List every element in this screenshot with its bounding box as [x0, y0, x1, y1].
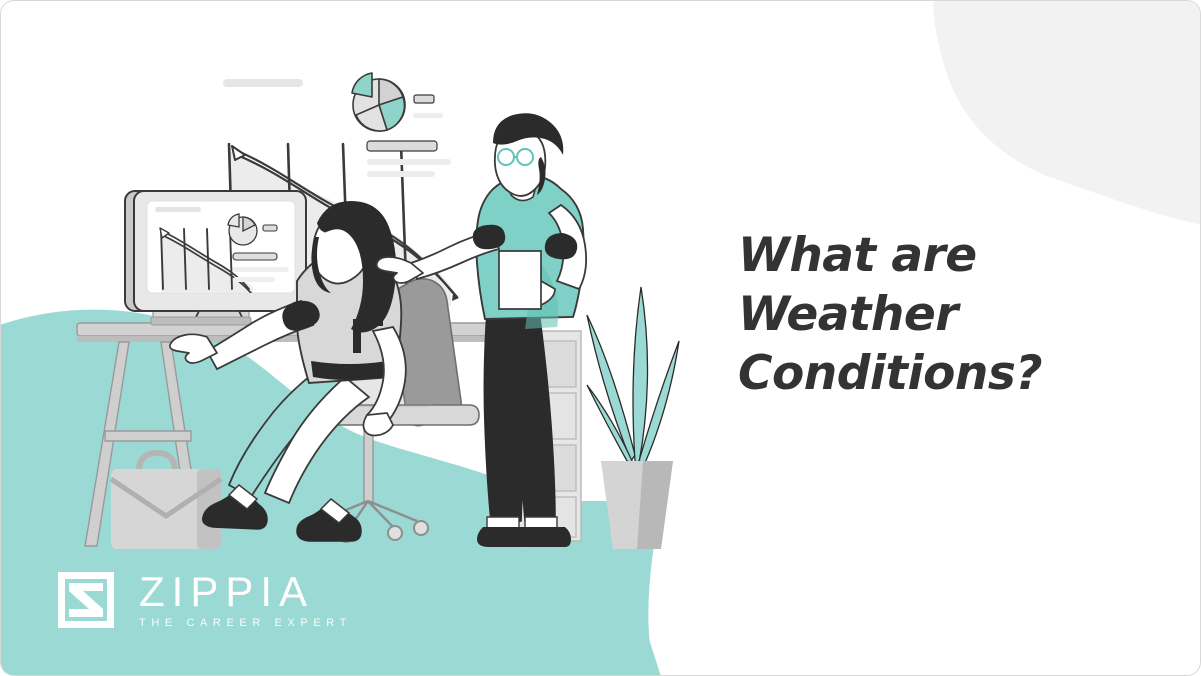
plant-leaf-2: [633, 287, 648, 463]
floating-text-bar-4: [367, 171, 435, 177]
screen-text-bar-3: [233, 277, 275, 282]
page-title: What are Weather Conditions?: [738, 226, 1168, 403]
grey-corner-blob: [933, 1, 1201, 231]
man-shoe-right: [517, 527, 571, 547]
logo-tagline: THE CAREER EXPERT: [139, 616, 352, 631]
man-sleeve-band-left: [473, 225, 505, 250]
floating-text-bar-2: [367, 141, 437, 151]
logo-name: ZIPPIA: [139, 570, 352, 614]
plant-pot-shade: [637, 461, 673, 549]
floating-text-bar-1: [413, 113, 443, 118]
zippia-logo[interactable]: ZIPPIA THE CAREER EXPERT: [55, 569, 352, 631]
floating-title-bar: [223, 79, 303, 87]
zippia-logo-wordmark: ZIPPIA THE CAREER EXPERT: [139, 570, 352, 631]
floating-text-bar-3: [367, 159, 451, 165]
floating-legend-chip: [414, 95, 434, 103]
chair-column: [364, 425, 373, 503]
plant-leaf-1: [587, 315, 635, 461]
keyboard: [151, 317, 251, 325]
zippia-article-hero-card: What are Weather Conditions? ZIPPIA THE …: [0, 0, 1201, 676]
screen-title-bar: [155, 207, 201, 212]
screen-text-bar-2: [233, 267, 289, 272]
zippia-z-monogram-icon: [55, 569, 117, 631]
screen-text-bar-1: [233, 253, 277, 260]
floating-pie-chart: [352, 73, 405, 131]
woman-hand-resting: [363, 413, 393, 436]
pie-exploded-slice: [352, 73, 372, 97]
screen-legend-chip: [263, 225, 277, 231]
man-document: [499, 251, 541, 309]
desktop-monitor: [125, 191, 306, 323]
